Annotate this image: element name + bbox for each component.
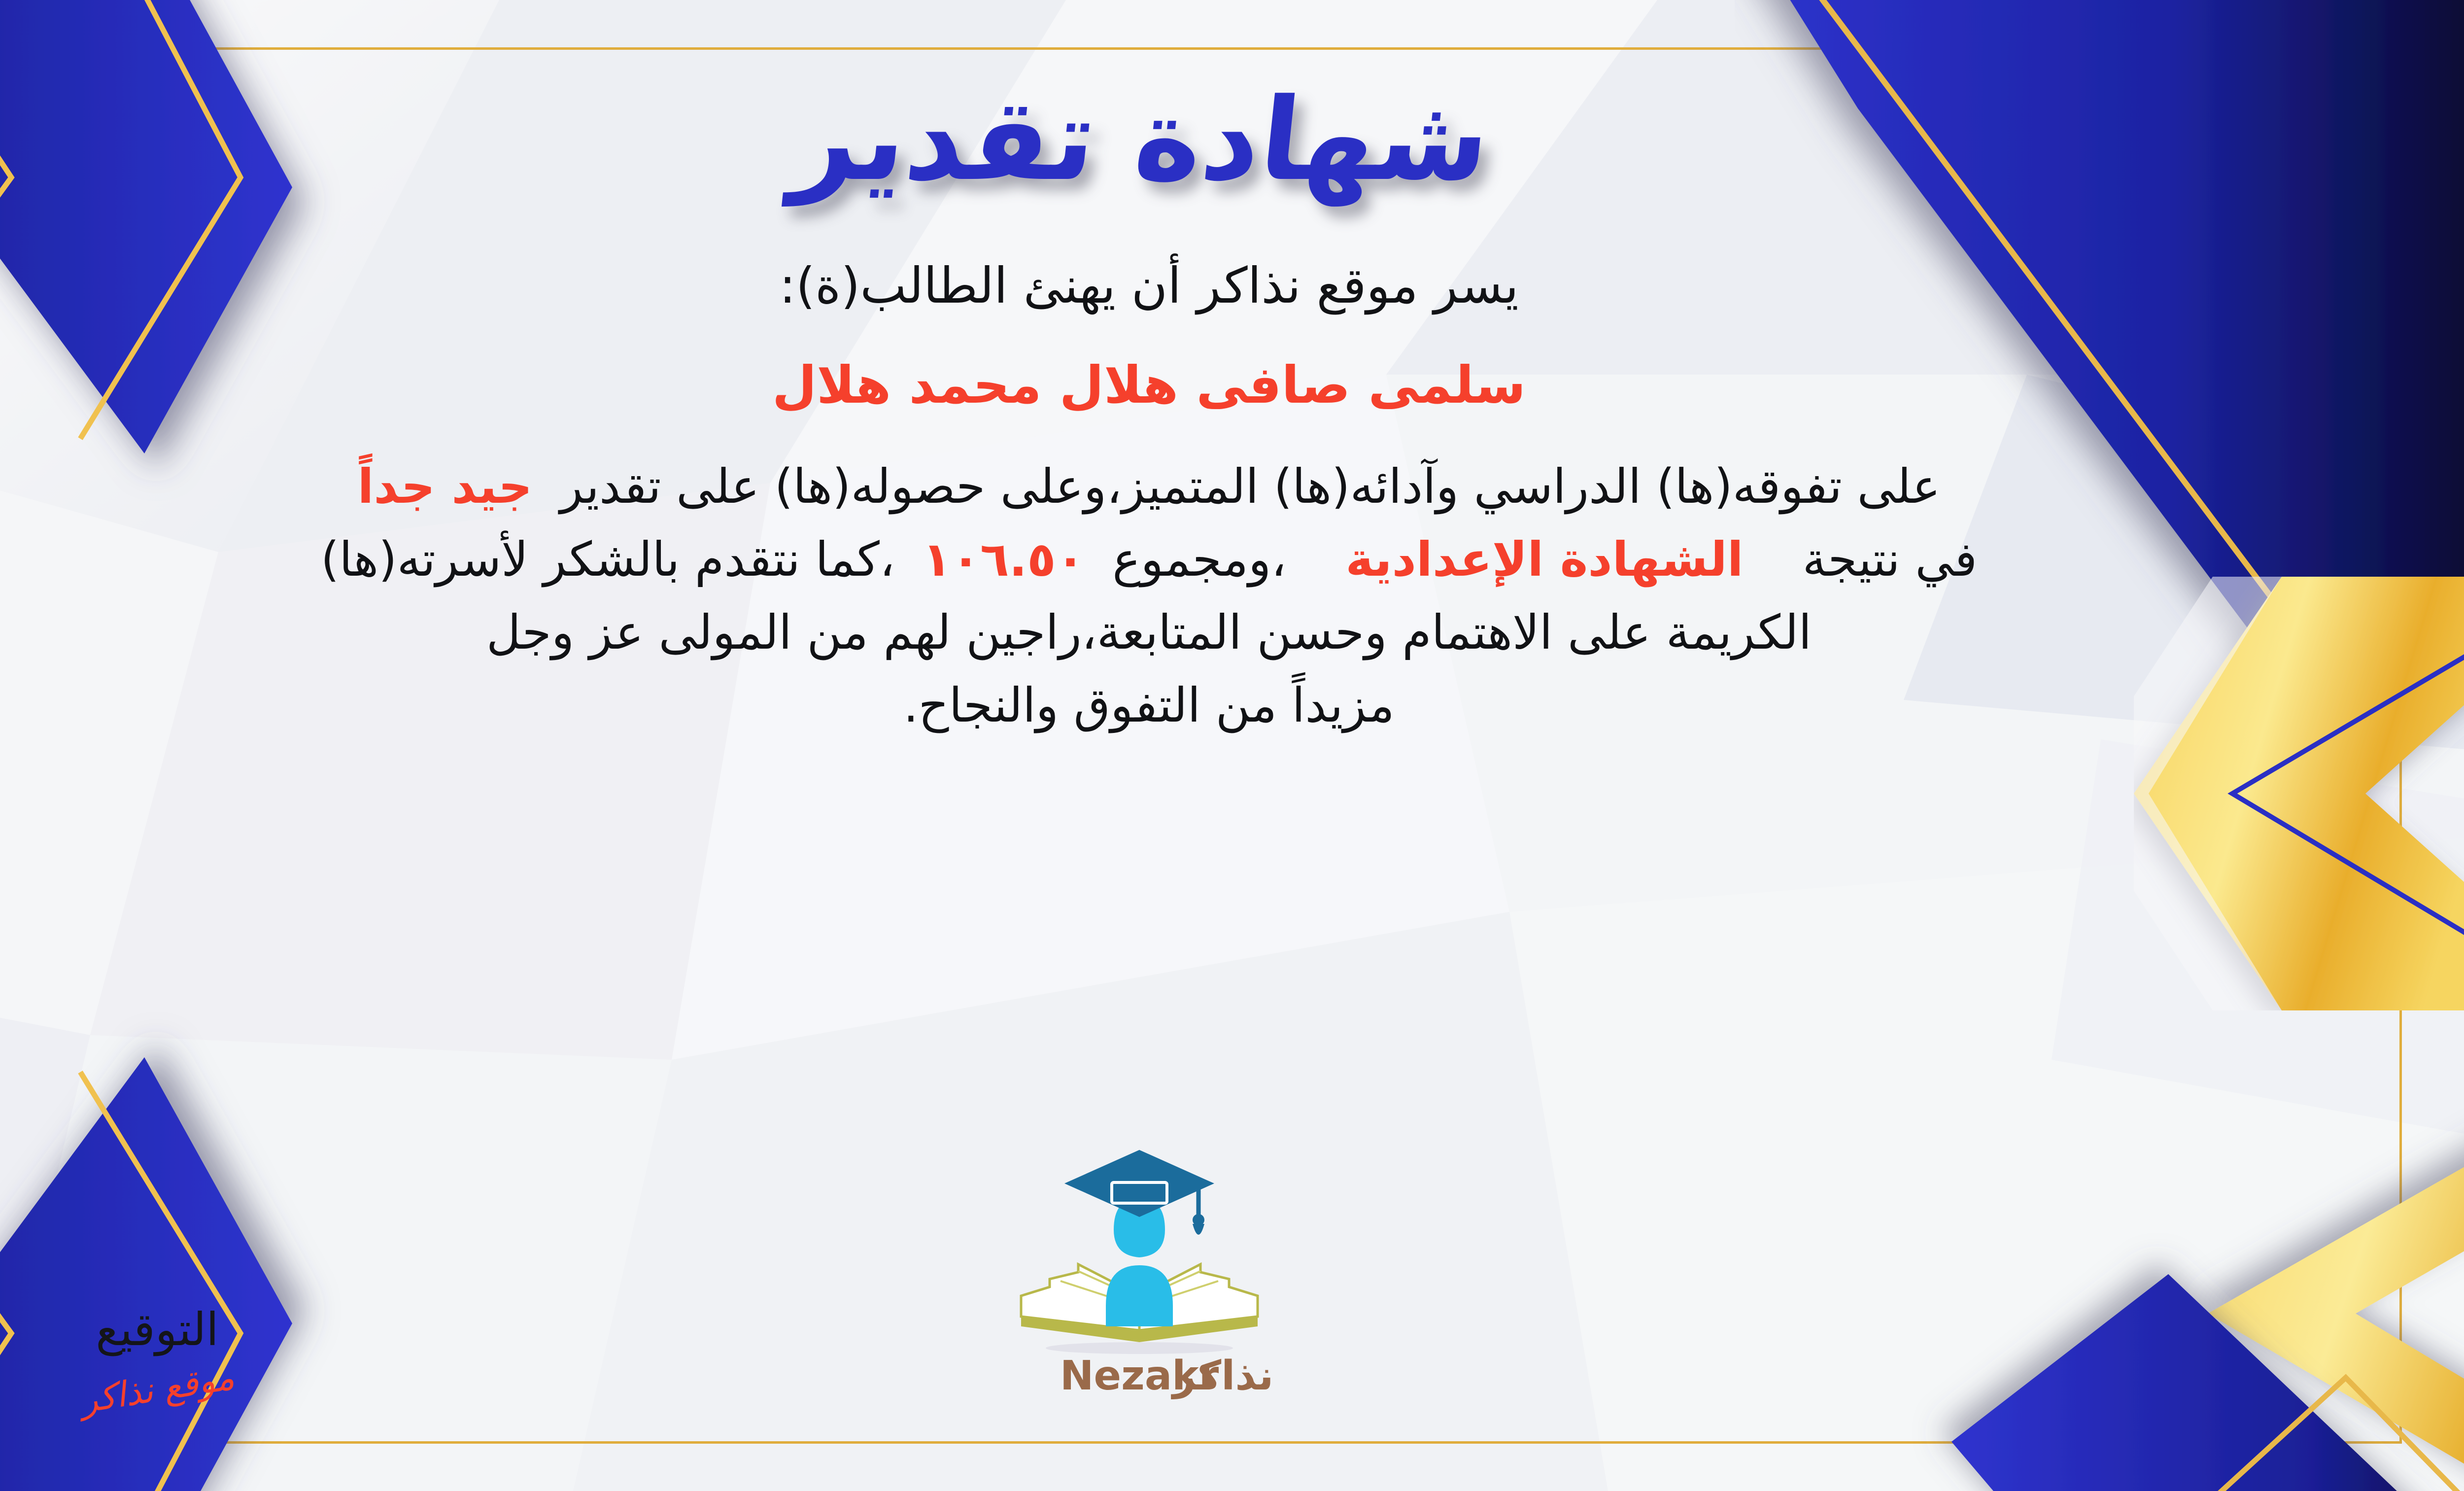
certificate-title: شهادة تقدير (0, 57, 2402, 235)
body-line-6: مزيداً من التفوق والنجاح. (0, 670, 2402, 740)
signature-block: التوقيع موقع نذاكر (0, 1303, 315, 1409)
score-value: ١٠٦.٥٠ (923, 532, 1085, 587)
exam-name: الشهادة الإعدادية (1345, 532, 1743, 587)
graduate-figure-icon (1106, 1198, 1173, 1326)
grade-value: جيد جداً (357, 459, 532, 514)
nezakr-logo: Nezakr نذاكر (972, 1133, 1317, 1409)
signature-mark: موقع نذاكر (77, 1357, 237, 1421)
certificate-body: يسر موقع نذاكر أن يهنئ الطالب(ة): سلمى ص… (0, 248, 2402, 743)
body-line-4-a: في نتيجة (1803, 532, 1978, 587)
intro-line: يسر موقع نذاكر أن يهنئ الطالب(ة): (0, 248, 2402, 323)
body-paragraph: على تفوقه(ها) الدراسي وآدائه(ها) المتميز… (0, 451, 2402, 740)
body-line-4-c: ،كما نتقدم بالشكر لأسرته(ها) (321, 532, 895, 587)
body-line-4: في نتيجةالشهادة الإعدادية،ومجموع١٠٦.٥٠،ك… (0, 524, 2402, 594)
signature-label: التوقيع (96, 1303, 219, 1356)
body-line-4-b: ،ومجموع (1112, 532, 1286, 587)
certificate-content: شهادة تقدير يسر موقع نذاكر أن يهنئ الطال… (0, 47, 2402, 1444)
student-name: سلمى صافى هلال محمد هلال (0, 346, 2402, 424)
certificate-title-text: شهادة تقدير (781, 74, 1496, 207)
certificate-stage: شهادة تقدير يسر موقع نذاكر أن يهنئ الطال… (0, 0, 2464, 1491)
certificate-footer: Nezakr نذاكر التوقيع موقع نذاكر (0, 1133, 2402, 1409)
body-line-3: على تفوقه(ها) الدراسي وآدائه(ها) المتميز… (0, 451, 2402, 521)
logo-wordmark-arabic: نذاكر (1170, 1352, 1273, 1399)
body-line-5: الكريمة على الاهتمام وحسن المتابعة،راجين… (0, 597, 2402, 667)
body-line-3-text: على تفوقه(ها) الدراسي وآدائه(ها) المتميز… (560, 459, 1940, 514)
